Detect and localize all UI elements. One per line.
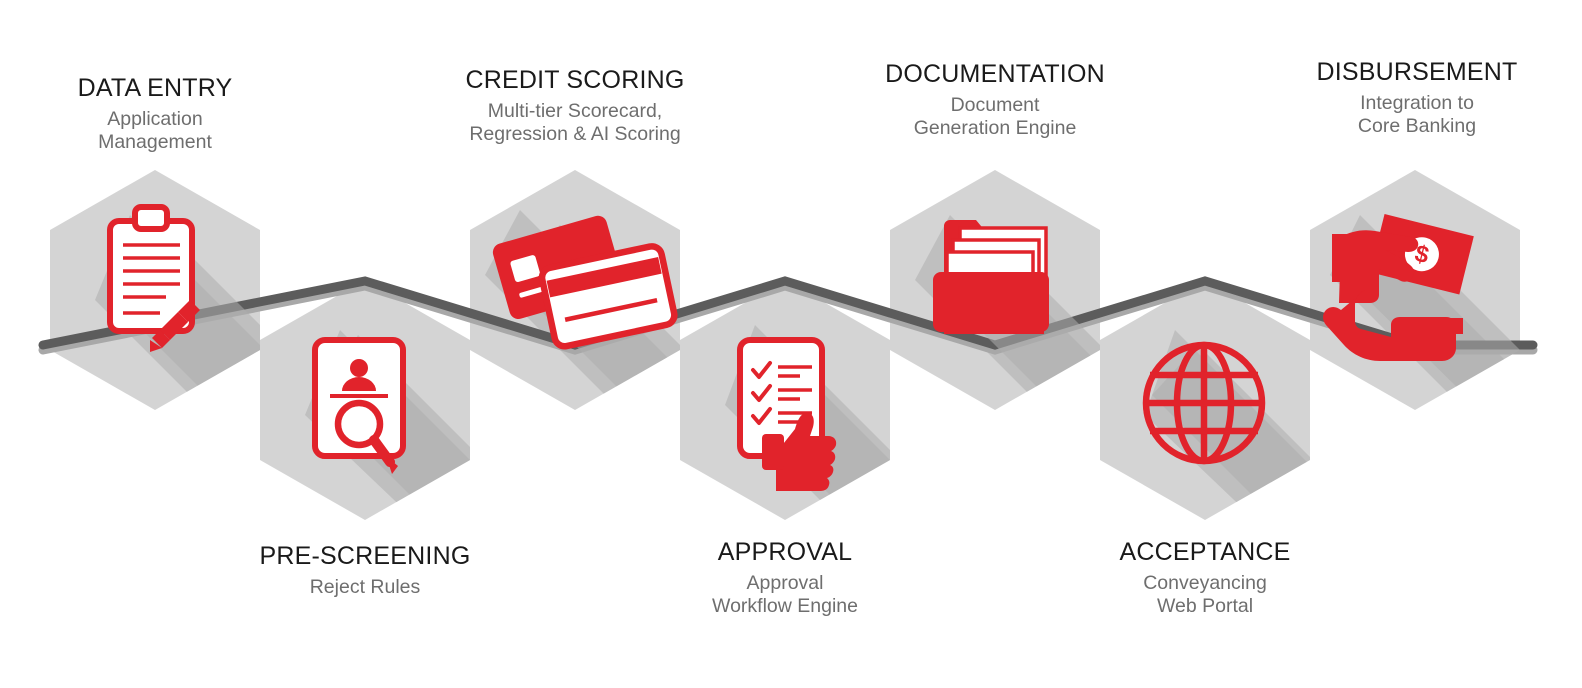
step-label-acceptance: ACCEPTANCE Conveyancing Web Portal (1045, 538, 1365, 618)
step-title: CREDIT SCORING (415, 66, 735, 96)
step-subtitle-line2: Regression & AI Scoring (415, 123, 735, 146)
step-subtitle-line1: Application (107, 108, 202, 130)
step-subtitle-line1: Document (951, 94, 1040, 116)
step-title: PRE-SCREENING (205, 542, 525, 572)
step-subtitle-line1: Approval (747, 572, 824, 594)
step-subtitle-line1: Multi-tier Scorecard, (488, 100, 662, 122)
step-label-pre-screening: PRE-SCREENING Reject Rules (205, 542, 525, 599)
step-title: DOCUMENTATION (835, 60, 1155, 90)
step-label-data-entry: DATA ENTRY Application Management (0, 74, 315, 154)
step-subtitle: Document Generation Engine (835, 94, 1155, 140)
step-label-approval: APPROVAL Approval Workflow Engine (625, 538, 945, 618)
step-subtitle-line2: Generation Engine (835, 117, 1155, 140)
step-title: DATA ENTRY (0, 74, 315, 104)
process-flow-diagram: $ DATA ENTRY Application Management PRE-… (0, 0, 1582, 688)
step-subtitle: Multi-tier Scorecard, Regression & AI Sc… (415, 100, 735, 146)
step-subtitle: Integration to Core Banking (1257, 92, 1577, 138)
step-label-documentation: DOCUMENTATION Document Generation Engine (835, 60, 1155, 140)
step-title: ACCEPTANCE (1045, 538, 1365, 568)
step-title: APPROVAL (625, 538, 945, 568)
step-subtitle-line2: Workflow Engine (625, 595, 945, 618)
step-subtitle: Application Management (0, 108, 315, 154)
step-subtitle-line2: Web Portal (1045, 595, 1365, 618)
step-label-disbursement: DISBURSEMENT Integration to Core Banking (1257, 58, 1577, 138)
step-subtitle: Conveyancing Web Portal (1045, 572, 1365, 618)
step-title: DISBURSEMENT (1257, 58, 1577, 88)
step-subtitle: Approval Workflow Engine (625, 572, 945, 618)
step-subtitle-line1: Conveyancing (1143, 572, 1267, 594)
step-subtitle-line1: Reject Rules (310, 576, 421, 598)
step-subtitle-line1: Integration to (1360, 92, 1474, 114)
step-subtitle-line2: Core Banking (1257, 115, 1577, 138)
step-subtitle: Reject Rules (205, 576, 525, 599)
step-label-credit-scoring: CREDIT SCORING Multi-tier Scorecard, Reg… (415, 66, 735, 146)
step-subtitle-line2: Management (0, 131, 315, 154)
